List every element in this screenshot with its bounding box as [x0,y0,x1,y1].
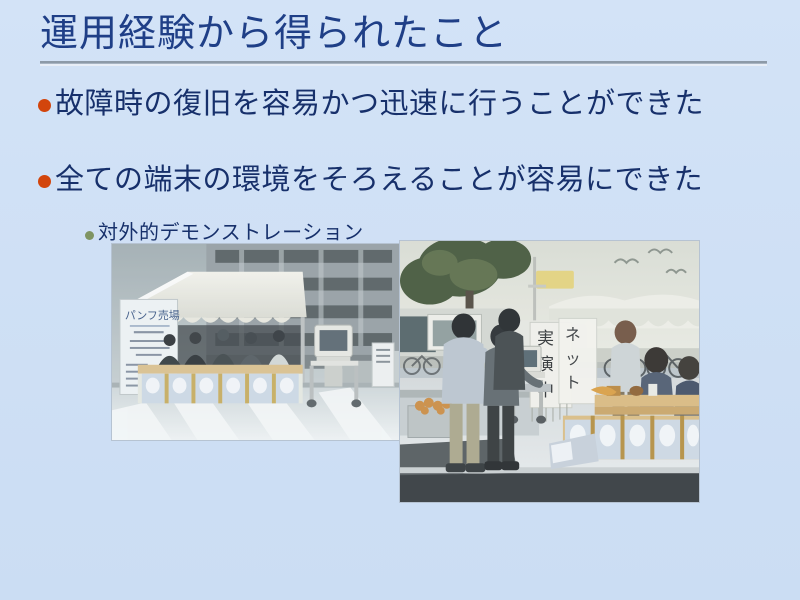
list-item: 故障時の復旧を容易かつ迅速に行うことができた [38,86,768,122]
title-block: 運用経験から得られたこと [40,14,770,66]
bullet-dot-icon [38,175,51,188]
photo-demo-booth: 実 演 中 ネ ッ ト [399,240,700,503]
photo-tent-booth-graphic: パンフ売場 [112,244,400,440]
bullet-text: 故障時の復旧を容易かつ迅速に行うことができた [55,86,704,122]
sub-bullet-text: 対外的デモンストレーション [98,221,364,246]
sub-bullet-dot-icon [85,231,94,240]
bullet-list: 故障時の復旧を容易かつ迅速に行うことができた 全ての端末の環境をそろえることが容… [38,86,768,246]
list-item: 全ての端末の環境をそろえることが容易にできた [38,162,768,198]
photo-tent-booth: パンフ売場 [111,243,401,441]
photo-demo-booth-graphic: 実 演 中 ネ ッ ト [400,241,699,502]
bullet-dot-icon [38,99,51,112]
title-divider [40,61,767,66]
page-title: 運用経験から得られたこと [40,14,770,55]
bullet-text: 全ての端末の環境をそろえることが容易にできた [55,162,703,198]
presentation-slide: 運用経験から得られたこと 故障時の復旧を容易かつ迅速に行うことができた 全ての端… [0,0,800,600]
